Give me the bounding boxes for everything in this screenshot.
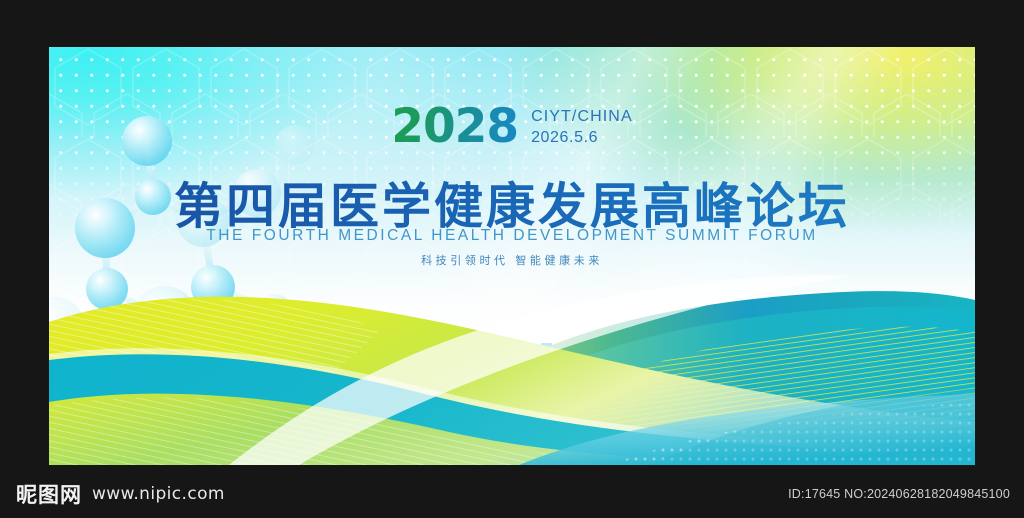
subtitle-en: THE FOURTH MEDICAL HEALTH DEVELOPMENT SU… <box>49 227 975 245</box>
date-line: 2026.5.6 <box>531 127 633 148</box>
image-id-text: ID:17645 NO:20240628182049845100 <box>788 487 1010 501</box>
year-meta: CIYT/CHINA 2026.5.6 <box>531 104 633 149</box>
nipic-url: www.nipic.com <box>92 484 225 504</box>
year-row: 2028 CIYT/CHINA 2026.5.6 <box>49 104 975 150</box>
organization-line: CIYT/CHINA <box>531 106 633 127</box>
year-number: 2028 <box>391 104 518 150</box>
nipic-logo: 昵图网 <box>16 479 82 509</box>
poster-artboard: 2028 CIYT/CHINA 2026.5.6 第四届医学健康发展高峰论坛 T… <box>49 47 975 465</box>
tagline-cn: 科技引领时代 智能健康未来 <box>49 252 975 268</box>
watermark-bar: 昵图网 www.nipic.com ID:17645 NO:2024062818… <box>0 470 1024 518</box>
flowing-wave-ribbons <box>49 250 975 465</box>
